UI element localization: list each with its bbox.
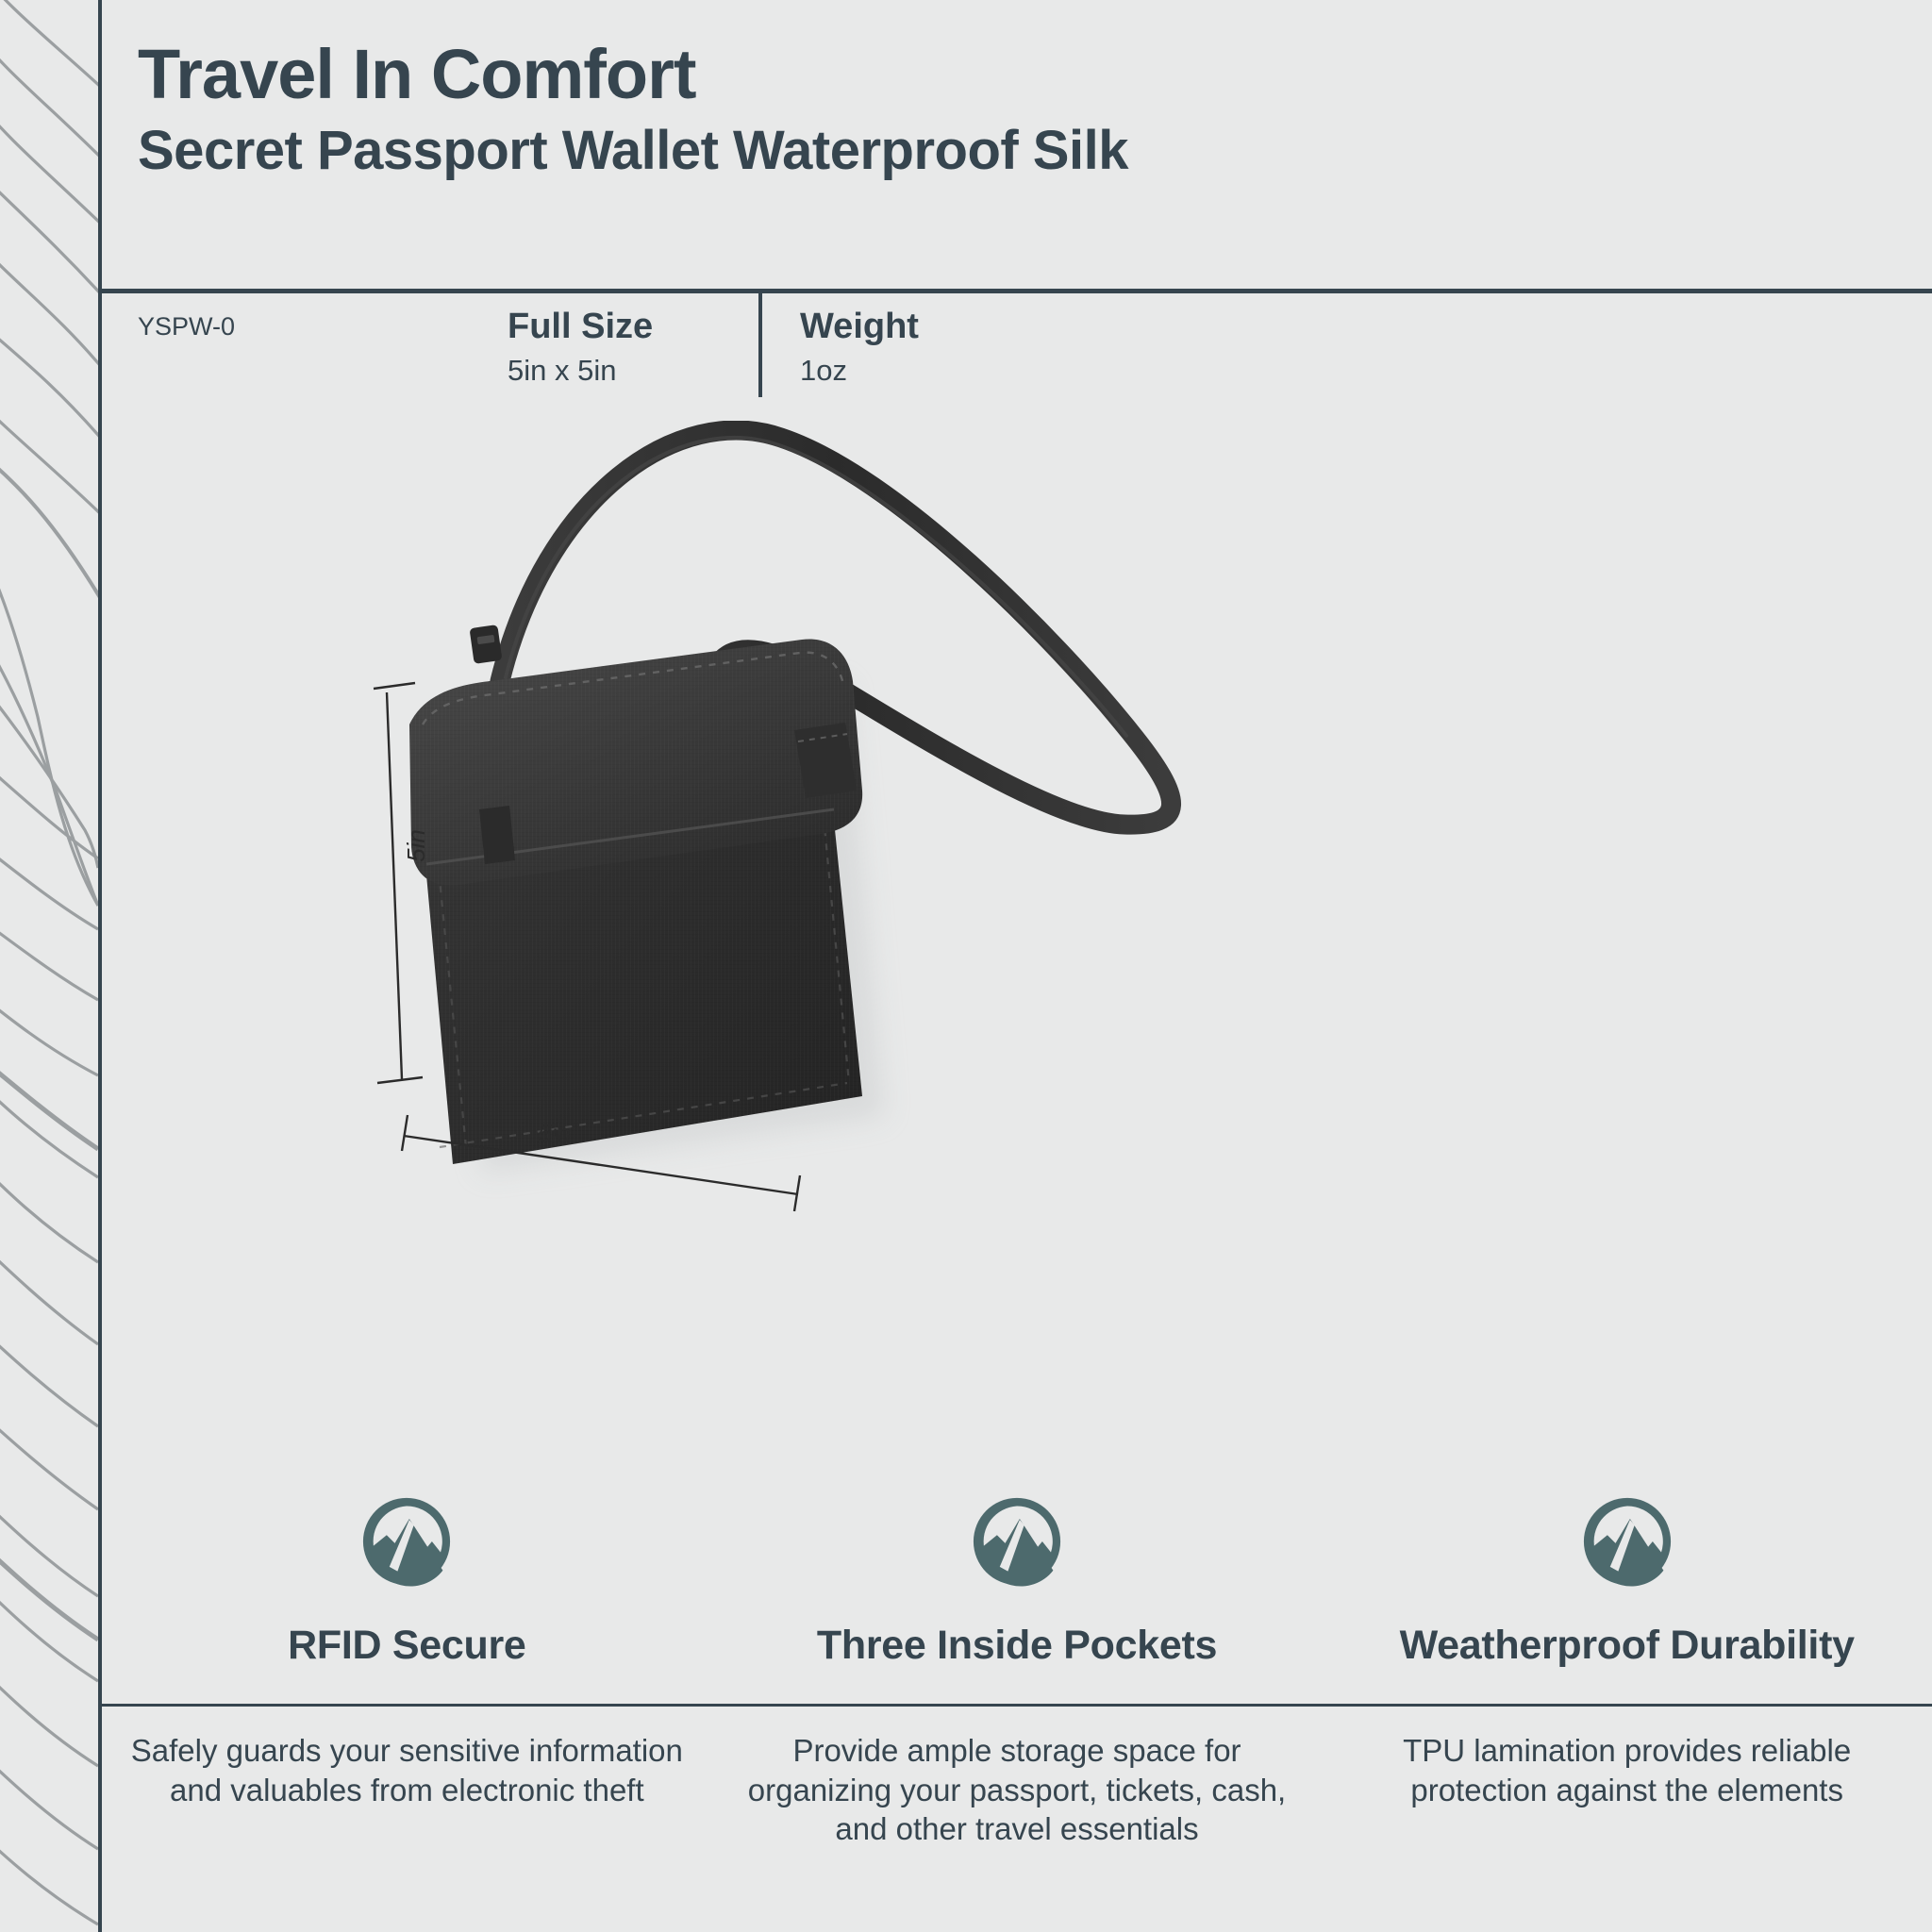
feature-description-column-2: Provide ample storage space for organizi… — [712, 1731, 1323, 1932]
feature-title-1: RFID Secure — [288, 1623, 525, 1669]
topographic-pattern-strip — [0, 0, 98, 1932]
header: Travel In Comfort Secret Passport Wallet… — [102, 0, 1932, 289]
features-row: RFID Secure Three Inside Pockets Weather… — [102, 1496, 1932, 1706]
feature-description-column-1: Safely guards your sensitive information… — [102, 1731, 712, 1932]
dimension-label-vertical: 5in — [402, 829, 431, 862]
feature-description-2: Provide ample storage space for organizi… — [725, 1731, 1309, 1849]
feature-title-2: Three Inside Pockets — [817, 1623, 1217, 1669]
feature-column-3: Weatherproof Durability — [1322, 1496, 1932, 1706]
feature-column-2: Three Inside Pockets — [712, 1496, 1323, 1706]
product-photo — [102, 421, 1932, 1496]
strap-adjuster — [470, 625, 503, 664]
spec-full-size-label: Full Size — [508, 307, 758, 348]
page-subtitle: Secret Passport Wallet Waterproof Silk — [138, 109, 1894, 181]
feature-descriptions-row: Safely guards your sensitive information… — [102, 1707, 1932, 1932]
feature-description-column-3: TPU lamination provides reliable protect… — [1322, 1731, 1932, 1932]
mountain-circle-icon — [972, 1496, 1062, 1587]
feature-description-3: TPU lamination provides reliable protect… — [1335, 1731, 1919, 1809]
feature-description-1: Safely guards your sensitive information… — [115, 1731, 699, 1809]
product-infographic: Travel In Comfort Secret Passport Wallet… — [0, 0, 1932, 1932]
spec-weight-value: 1oz — [800, 348, 919, 390]
spec-bar: YSPW-0 Full Size 5in x 5in Weight 1oz — [102, 293, 1932, 421]
sku-label: YSPW-0 — [102, 293, 508, 341]
spec-weight: Weight 1oz — [758, 293, 919, 397]
spec-full-size: Full Size 5in x 5in — [508, 293, 758, 390]
feature-column-1: RFID Secure — [102, 1496, 712, 1706]
spec-weight-label: Weight — [800, 307, 919, 348]
mountain-circle-icon — [1582, 1496, 1673, 1587]
page-title: Travel In Comfort — [138, 30, 1894, 109]
spec-full-size-value: 5in x 5in — [508, 348, 758, 390]
dimension-label-horizontal: 5in — [538, 1119, 571, 1148]
mountain-circle-icon — [361, 1496, 452, 1587]
product-image-area: 5in 5in — [102, 421, 1932, 1496]
feature-title-3: Weatherproof Durability — [1400, 1623, 1855, 1669]
